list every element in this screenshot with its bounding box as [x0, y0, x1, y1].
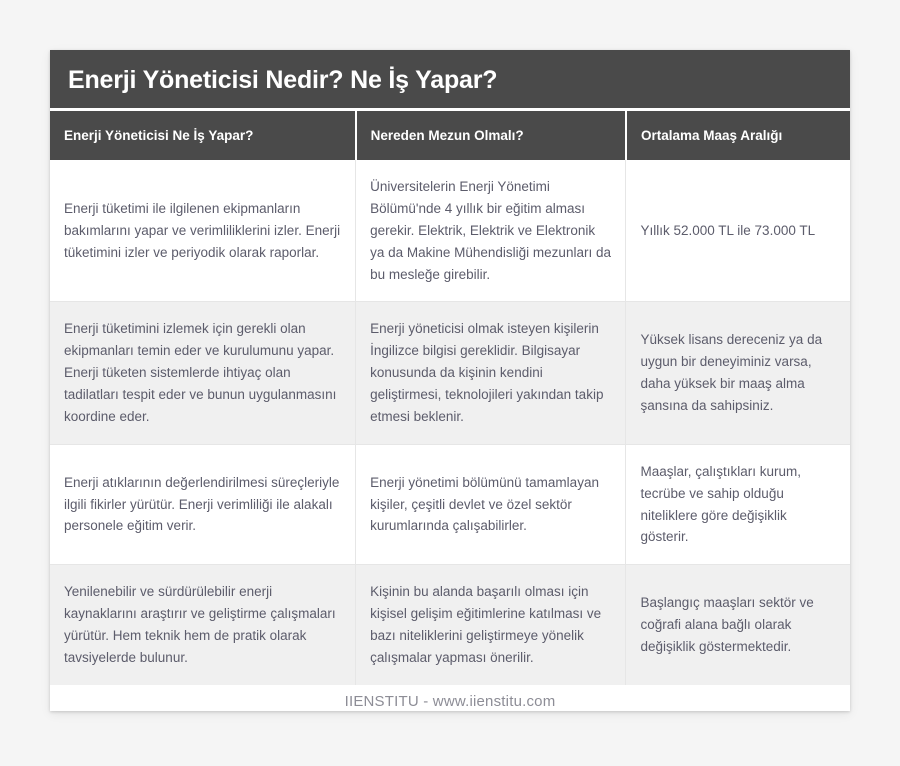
cell-duties: Enerji atıklarının değerlendirilmesi sür… — [50, 444, 356, 564]
table-head: Enerji Yöneticisi Ne İş Yapar? Nereden M… — [50, 110, 850, 161]
cell-salary: Yüksek lisans dereceniz ya da uygun bir … — [626, 302, 850, 444]
cell-education: Enerji yönetimi bölümünü tamamlayan kişi… — [356, 444, 626, 564]
table-row: Enerji tüketimini izlemek için gerekli o… — [50, 302, 850, 444]
cell-education: Kişinin bu alanda başarılı olması için k… — [356, 565, 626, 685]
column-header-salary: Ortalama Maaş Aralığı — [626, 110, 850, 161]
card-title: Enerji Yöneticisi Nedir? Ne İş Yapar? — [50, 50, 850, 108]
cell-salary: Yıllık 52.000 TL ile 73.000 TL — [626, 160, 850, 302]
table-row: Enerji tüketimi ile ilgilenen ekipmanlar… — [50, 160, 850, 302]
cell-duties: Yenilenebilir ve sürdürülebilir enerji k… — [50, 565, 356, 685]
info-card: Enerji Yöneticisi Nedir? Ne İş Yapar? En… — [50, 50, 850, 711]
table-body: Enerji tüketimi ile ilgilenen ekipmanlar… — [50, 160, 850, 684]
cell-education: Üniversitelerin Enerji Yönetimi Bölümü'n… — [356, 160, 626, 302]
cell-salary: Maaşlar, çalıştıkları kurum, tecrübe ve … — [626, 444, 850, 564]
cell-duties: Enerji tüketimi ile ilgilenen ekipmanlar… — [50, 160, 356, 302]
cell-duties: Enerji tüketimini izlemek için gerekli o… — [50, 302, 356, 444]
column-header-education: Nereden Mezun Olmalı? — [356, 110, 626, 161]
info-table: Enerji Yöneticisi Ne İş Yapar? Nereden M… — [50, 108, 850, 685]
column-header-duties: Enerji Yöneticisi Ne İş Yapar? — [50, 110, 356, 161]
cell-education: Enerji yöneticisi olmak isteyen kişileri… — [356, 302, 626, 444]
table-header-row: Enerji Yöneticisi Ne İş Yapar? Nereden M… — [50, 110, 850, 161]
page-root: Enerji Yöneticisi Nedir? Ne İş Yapar? En… — [0, 0, 900, 766]
table-row: Enerji atıklarının değerlendirilmesi sür… — [50, 444, 850, 564]
table-row: Yenilenebilir ve sürdürülebilir enerji k… — [50, 565, 850, 685]
source-caption: IIENSTITU - www.iienstitu.com — [0, 693, 900, 710]
cell-salary: Başlangıç maaşları sektör ve coğrafi ala… — [626, 565, 850, 685]
